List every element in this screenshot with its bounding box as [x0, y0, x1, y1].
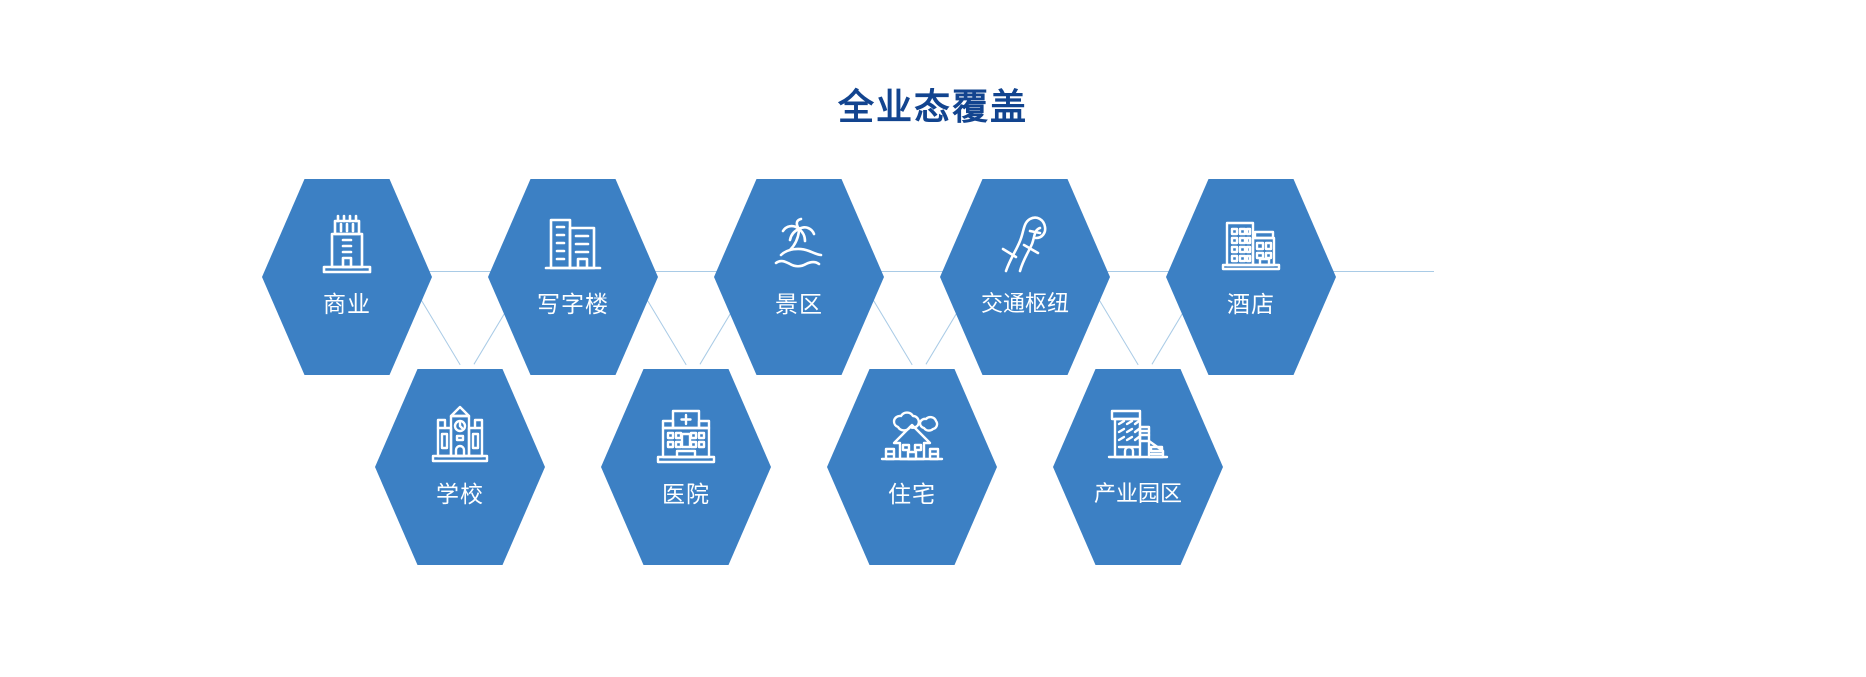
palm-island-icon [763, 213, 835, 277]
hex-tile-industrial-park[interactable]: 产业园区 [1053, 369, 1223, 565]
school-building-icon [424, 403, 496, 467]
hex-label: 学校 [436, 479, 484, 509]
office-tower-icon [311, 213, 383, 277]
hexagon-grid: 商业 写字楼 [0, 0, 1866, 677]
hex-tile-hospital[interactable]: 医院 [601, 369, 771, 565]
hex-label: 酒店 [1227, 289, 1275, 319]
hex-tile-commercial[interactable]: 商业 [262, 179, 432, 375]
house-trees-icon [876, 403, 948, 467]
hex-tile-office[interactable]: 写字楼 [488, 179, 658, 375]
hex-label: 产业园区 [1094, 479, 1182, 509]
office-building-icon [537, 213, 609, 277]
hex-label: 写字楼 [537, 289, 609, 319]
hex-label: 交通枢纽 [981, 289, 1069, 319]
slide-canvas: 全业态覆盖 [0, 0, 1866, 677]
hex-label: 商业 [323, 289, 371, 319]
hospital-cross-icon [650, 403, 722, 467]
hex-label: 住宅 [888, 479, 936, 509]
hex-label: 景区 [775, 289, 823, 319]
hex-tile-residence[interactable]: 住宅 [827, 369, 997, 565]
hex-tile-transport-hub[interactable]: 交通枢纽 [940, 179, 1110, 375]
highway-interchange-icon [989, 213, 1061, 277]
hotel-building-icon [1215, 213, 1287, 277]
hex-tile-school[interactable]: 学校 [375, 369, 545, 565]
hex-label: 医院 [662, 479, 710, 509]
hex-tile-hotel[interactable]: 酒店 [1166, 179, 1336, 375]
industrial-park-icon [1102, 403, 1174, 467]
hex-tile-scenic[interactable]: 景区 [714, 179, 884, 375]
